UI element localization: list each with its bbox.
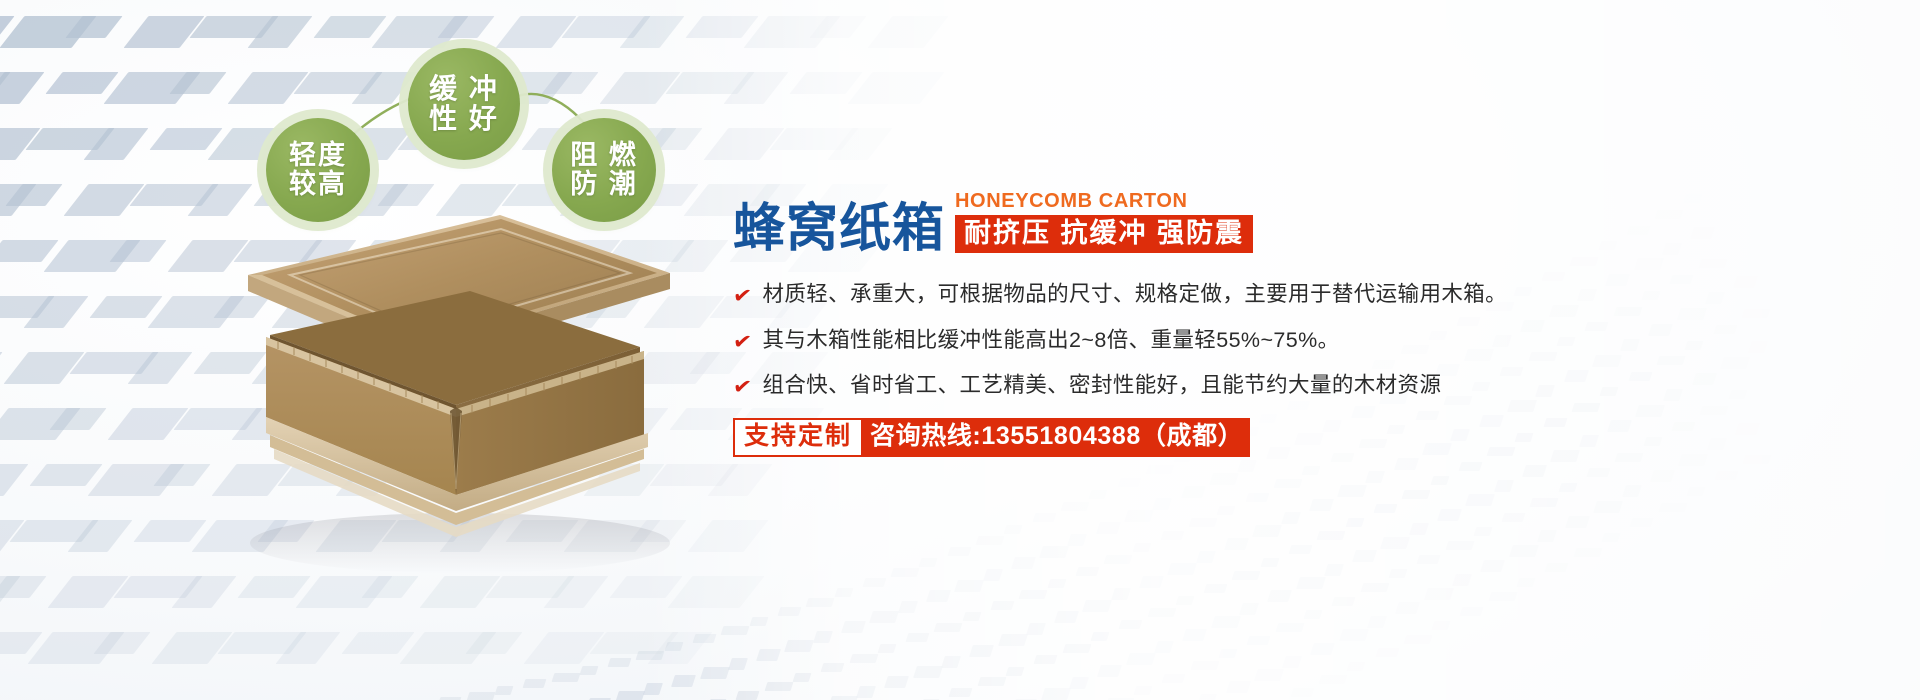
pattern-square [941, 656, 961, 668]
pattern-square [1290, 688, 1314, 697]
pattern-square [1337, 485, 1367, 497]
pattern-square [1388, 569, 1407, 578]
pattern-shape [169, 72, 226, 94]
pattern-shape [523, 632, 604, 664]
pattern-square [891, 568, 920, 577]
pattern-square [1039, 546, 1069, 558]
pattern-square [1096, 522, 1121, 534]
pattern-shape [25, 128, 114, 150]
pattern-square [1097, 665, 1122, 677]
pattern-square [1502, 513, 1526, 522]
pattern-square [1686, 487, 1705, 496]
pattern-shape [29, 464, 102, 486]
pattern-square [1119, 620, 1143, 629]
pattern-shape [63, 184, 144, 216]
pattern-square [1565, 516, 1590, 528]
pattern-shape [67, 520, 132, 552]
pattern-square [1181, 486, 1206, 498]
pattern-square [1281, 512, 1301, 524]
pattern-square [1111, 588, 1131, 600]
pattern-square [1339, 629, 1369, 641]
pattern-shape [43, 240, 140, 272]
pattern-square [1075, 567, 1099, 576]
pattern-square [1587, 468, 1611, 477]
carton-body [266, 291, 648, 537]
pattern-square [1182, 629, 1207, 641]
pattern-shape [123, 16, 204, 48]
headline-subtitle-english: HONEYCOMB CARTON [955, 190, 1253, 212]
list-item: ✔ 组合快、省时省工、工艺精美、密封性能好，且能节约大量的木材资源 [733, 372, 1863, 400]
headline-row: 蜂窝纸箱 HONEYCOMB CARTON 耐挤压 抗缓冲 强防震 [733, 190, 1863, 255]
pattern-shape [0, 240, 59, 262]
pattern-square [636, 651, 665, 660]
pattern-square [1658, 503, 1687, 512]
pattern-square [1126, 653, 1156, 665]
pattern-shape [0, 128, 41, 160]
pattern-square [1152, 498, 1172, 510]
pattern-square [1380, 537, 1410, 549]
pattern-square [1034, 655, 1058, 664]
pattern-square [749, 617, 768, 626]
pattern-square [1558, 483, 1577, 492]
pattern-shape [313, 16, 386, 38]
pattern-square [1224, 538, 1249, 550]
pattern-square [1409, 523, 1429, 535]
pattern-square [1147, 608, 1176, 617]
pattern-shape [189, 16, 278, 38]
pattern-square [1254, 669, 1284, 681]
feature-label-line1: 阻 燃 [570, 141, 638, 170]
list-item-text: 组合快、省时省工、工艺精美、密封性能好，且能节约大量的木材资源 [762, 372, 1441, 399]
pattern-square [1237, 460, 1257, 472]
pattern-shape [723, 72, 788, 104]
pattern-square [1274, 479, 1303, 488]
pattern-square [1650, 470, 1675, 482]
pattern-square [736, 691, 760, 700]
pattern-square [1160, 531, 1184, 540]
pattern-square [494, 686, 513, 695]
pattern-shape [3, 352, 84, 384]
pattern-square [1134, 686, 1153, 695]
pattern-square [756, 649, 781, 661]
pattern-square [764, 682, 793, 691]
pattern-square [1573, 548, 1602, 557]
pattern-square [608, 658, 632, 667]
pattern-shape [275, 632, 340, 664]
pattern-square [1252, 525, 1282, 537]
pattern-square [1395, 602, 1420, 614]
headline-side: HONEYCOMB CARTON 耐挤压 抗缓冲 强防震 [955, 190, 1253, 255]
pattern-shape [847, 72, 944, 104]
pattern-square [1026, 623, 1046, 635]
pattern-shape [217, 632, 306, 654]
pattern-shape [109, 240, 166, 262]
pattern-square [841, 621, 866, 633]
pattern-square [1303, 610, 1322, 619]
pattern-shape [27, 632, 124, 664]
pattern-square [806, 598, 835, 607]
pattern-square [983, 569, 1003, 581]
pattern-square [1452, 574, 1472, 586]
pattern-square [1402, 490, 1431, 499]
promo-banner: 轻度 较高 缓 冲 性 好 阻 燃 防 潮 [0, 0, 1920, 700]
pattern-square [1318, 675, 1347, 684]
pattern-shape [437, 16, 494, 38]
pattern-shape [0, 576, 47, 598]
pattern-square [1061, 502, 1090, 511]
pattern-shape [0, 184, 37, 216]
pattern-square [1509, 545, 1539, 557]
pattern-square [1226, 681, 1251, 693]
hotline-badge[interactable]: 咨询热线:13551804388（成都） [863, 418, 1250, 457]
pattern-square [1537, 530, 1557, 542]
page-title: 蜂窝纸箱 [733, 203, 945, 255]
check-icon: ✔ [731, 281, 753, 311]
pattern-square [1445, 541, 1474, 550]
pattern-square [1219, 649, 1238, 658]
list-item-text: 材质轻、承重大，可根据物品的尺寸、规格定做，主要用于替代运输用木箱。 [762, 281, 1507, 308]
pattern-square [1006, 667, 1025, 676]
pattern-shape [789, 72, 862, 94]
pattern-square [1593, 501, 1623, 513]
pattern-square [1373, 504, 1397, 513]
pattern-square [906, 633, 930, 642]
tagline-badge: 耐挤压 抗缓冲 强防震 [955, 215, 1253, 253]
pattern-square [1360, 583, 1389, 592]
pattern-square [1032, 513, 1056, 522]
pattern-square [1517, 578, 1536, 587]
pattern-square [962, 612, 981, 621]
copy-block: 蜂窝纸箱 HONEYCOMB CARTON 耐挤压 抗缓冲 强防震 ✔ 材质轻、… [733, 190, 1863, 457]
product-image-honeycomb-carton [170, 195, 730, 595]
pattern-square [884, 676, 909, 688]
pattern-shape [0, 296, 55, 318]
pattern-square [1167, 563, 1197, 575]
pattern-square [1041, 688, 1071, 700]
pattern-square [1247, 636, 1271, 645]
pattern-shape [151, 632, 232, 664]
pattern-shape [0, 16, 15, 38]
pattern-square [934, 623, 963, 632]
pattern-square [1365, 471, 1385, 483]
pattern-square [1090, 632, 1109, 641]
pattern-shape [827, 128, 892, 160]
pattern-square [1197, 694, 1217, 700]
pattern-square [1204, 584, 1228, 593]
pattern-shape [0, 520, 25, 552]
check-icon: ✔ [731, 372, 753, 402]
pattern-square [1275, 623, 1304, 632]
pattern-square [1175, 596, 1194, 605]
pattern-square [1460, 607, 1484, 616]
pattern-square [1260, 558, 1279, 567]
pattern-square [1347, 662, 1366, 671]
pattern-shape [47, 576, 128, 608]
pattern-square [1458, 462, 1482, 471]
pattern-square [1124, 510, 1154, 522]
pattern-square [1403, 635, 1432, 644]
pattern-square [551, 673, 580, 682]
pattern-shape [809, 16, 866, 38]
pattern-square [1239, 603, 1259, 615]
pattern-square [523, 679, 547, 688]
hotline-label: 咨询热线: [870, 422, 981, 451]
pattern-shape [647, 632, 712, 664]
pattern-square [1430, 476, 1449, 485]
pattern-shape [341, 632, 414, 654]
pattern-square [1522, 465, 1547, 477]
pattern-square [643, 683, 663, 695]
pattern-square [1530, 498, 1559, 507]
pattern-square [947, 547, 971, 556]
feature-label-line1: 缓 冲 [429, 74, 499, 104]
pattern-square [1104, 555, 1133, 564]
pattern-shape [83, 128, 148, 160]
pattern-shape [0, 16, 97, 48]
pattern-square [976, 536, 1005, 545]
pattern-square [1480, 560, 1505, 572]
pattern-square [693, 634, 717, 643]
pattern-square [1267, 590, 1292, 602]
pattern-square [1011, 557, 1036, 569]
pattern-shape [65, 16, 122, 38]
list-item: ✔ 其与木箱性能相比缓冲性能高出2~8倍、重量轻55%~75%。 [733, 327, 1863, 355]
custom-made-badge: 支持定制 [733, 418, 863, 457]
pattern-square [969, 645, 994, 657]
pattern-square [1211, 616, 1241, 628]
pattern-shape [465, 632, 522, 654]
pattern-square [1473, 527, 1492, 536]
pattern-shape [867, 16, 948, 48]
pattern-square [1424, 588, 1454, 600]
pattern-shape [0, 632, 43, 654]
pattern-square [849, 654, 878, 663]
pattern-square [919, 558, 938, 567]
pattern-square [1117, 478, 1141, 487]
list-item-text: 其与木箱性能相比缓冲性能高出2~8倍、重量轻55%~75%。 [762, 327, 1339, 354]
check-icon: ✔ [731, 327, 753, 357]
pattern-square [1089, 490, 1108, 499]
pattern-square [664, 642, 683, 651]
pattern-square [792, 673, 811, 682]
pattern-shape [685, 16, 758, 38]
pattern-square [1367, 616, 1387, 628]
carton-illustration [170, 195, 730, 595]
pattern-shape [0, 576, 21, 608]
pattern-square [1145, 465, 1174, 474]
pattern-square [1069, 677, 1089, 689]
pattern-square [926, 590, 951, 602]
pattern-shape [149, 128, 222, 150]
pattern-square [1352, 550, 1377, 562]
pattern-shape [399, 632, 496, 664]
pattern-square [1488, 592, 1517, 601]
feature-label-line1: 轻度 [289, 141, 347, 170]
pattern-square [777, 607, 801, 616]
pattern-square [869, 611, 899, 623]
pattern-square [1417, 555, 1441, 564]
pattern-square [1494, 480, 1514, 492]
pattern-shape [89, 296, 162, 318]
pattern-square [1622, 485, 1642, 497]
pattern-shape [9, 520, 98, 542]
pattern-square [898, 601, 918, 613]
pattern-square [728, 658, 748, 670]
pattern-square [1062, 644, 1091, 653]
pattern-square [862, 578, 886, 587]
pattern-shape [769, 128, 858, 150]
pattern-square [1296, 577, 1326, 589]
pattern-square [1209, 473, 1239, 485]
pattern-shape [0, 72, 11, 94]
pattern-square [1465, 494, 1495, 506]
pattern-square [1345, 518, 1364, 527]
pattern-square [1054, 611, 1079, 623]
pattern-shape [0, 408, 81, 440]
pattern-square [1004, 525, 1023, 534]
pattern-square [1232, 571, 1261, 580]
pattern-square [998, 634, 1028, 646]
pattern-shape [69, 352, 158, 374]
pattern-square [1047, 579, 1066, 588]
pattern-square [954, 580, 984, 592]
pattern-square [1245, 493, 1269, 502]
pattern-square [1375, 648, 1399, 657]
pattern-square [1324, 564, 1344, 576]
pattern-shape [589, 632, 678, 654]
pattern-shape [23, 296, 88, 328]
pattern-square [671, 675, 696, 687]
pattern-square [1082, 600, 1112, 612]
pattern-shape [93, 632, 150, 654]
pattern-square [1432, 621, 1451, 630]
pattern-square [1019, 590, 1048, 599]
pattern-square [1282, 656, 1302, 668]
list-item: ✔ 材质轻、承重大，可根据物品的尺寸、规格定做，主要用于替代运输用木箱。 [733, 281, 1863, 309]
pattern-square [1317, 531, 1346, 540]
pattern-shape [45, 72, 118, 94]
pattern-square [913, 666, 943, 678]
pattern-square [1332, 597, 1356, 606]
pattern-shape [743, 16, 840, 48]
pattern-square [1310, 643, 1335, 655]
pattern-square [784, 640, 814, 652]
pattern-square [821, 663, 845, 672]
pattern-square [1132, 543, 1151, 552]
pattern-square [828, 696, 858, 700]
pattern-square [1067, 534, 1087, 546]
pattern-shape [0, 464, 29, 496]
pattern-square [1154, 641, 1174, 653]
pattern-shape [49, 408, 106, 430]
pattern-square [1545, 563, 1569, 572]
pattern-square [1630, 518, 1654, 527]
pattern-shape [561, 16, 650, 38]
pattern-square [1189, 518, 1218, 527]
pattern-square [856, 686, 876, 698]
pattern-square [949, 688, 973, 697]
contact-bar: 支持定制 咨询热线:13551804388（成都） [733, 418, 1250, 457]
pattern-square [977, 677, 1006, 686]
pattern-square [877, 644, 896, 653]
pattern-square [1162, 674, 1186, 683]
pattern-square [1302, 466, 1321, 475]
pattern-square [615, 691, 645, 700]
pattern-square [1394, 458, 1419, 470]
pattern-square [466, 692, 495, 700]
pattern-square [721, 626, 750, 635]
pattern-square [834, 588, 853, 597]
pattern-square [700, 667, 730, 679]
pattern-square [1437, 509, 1462, 521]
pattern-square [1309, 499, 1334, 511]
pattern-shape [5, 184, 62, 206]
pattern-square [1190, 661, 1219, 670]
pattern-square [813, 631, 833, 643]
pattern-square [991, 601, 1015, 610]
hotline-region: （成都） [1141, 422, 1243, 451]
pattern-shape [103, 72, 200, 104]
hotline-phone: 13551804388 [981, 422, 1141, 451]
feature-label-line2: 性 好 [429, 104, 499, 134]
pattern-square [1289, 545, 1313, 554]
pattern-square [1139, 576, 1164, 588]
pattern-square [1715, 471, 1739, 480]
pattern-square [1217, 506, 1236, 515]
pattern-shape [0, 352, 3, 374]
pattern-square [1196, 551, 1216, 563]
pattern-shape [0, 72, 45, 104]
feature-circle-cushioning[interactable]: 缓 冲 性 好 [408, 48, 520, 160]
pattern-square [1601, 533, 1620, 542]
pattern-shape [703, 128, 784, 160]
pattern-square [579, 666, 598, 675]
feature-bullet-list: ✔ 材质轻、承重大，可根据物品的尺寸、规格定做，主要用于替代运输用木箱。 ✔ 其… [733, 281, 1863, 400]
